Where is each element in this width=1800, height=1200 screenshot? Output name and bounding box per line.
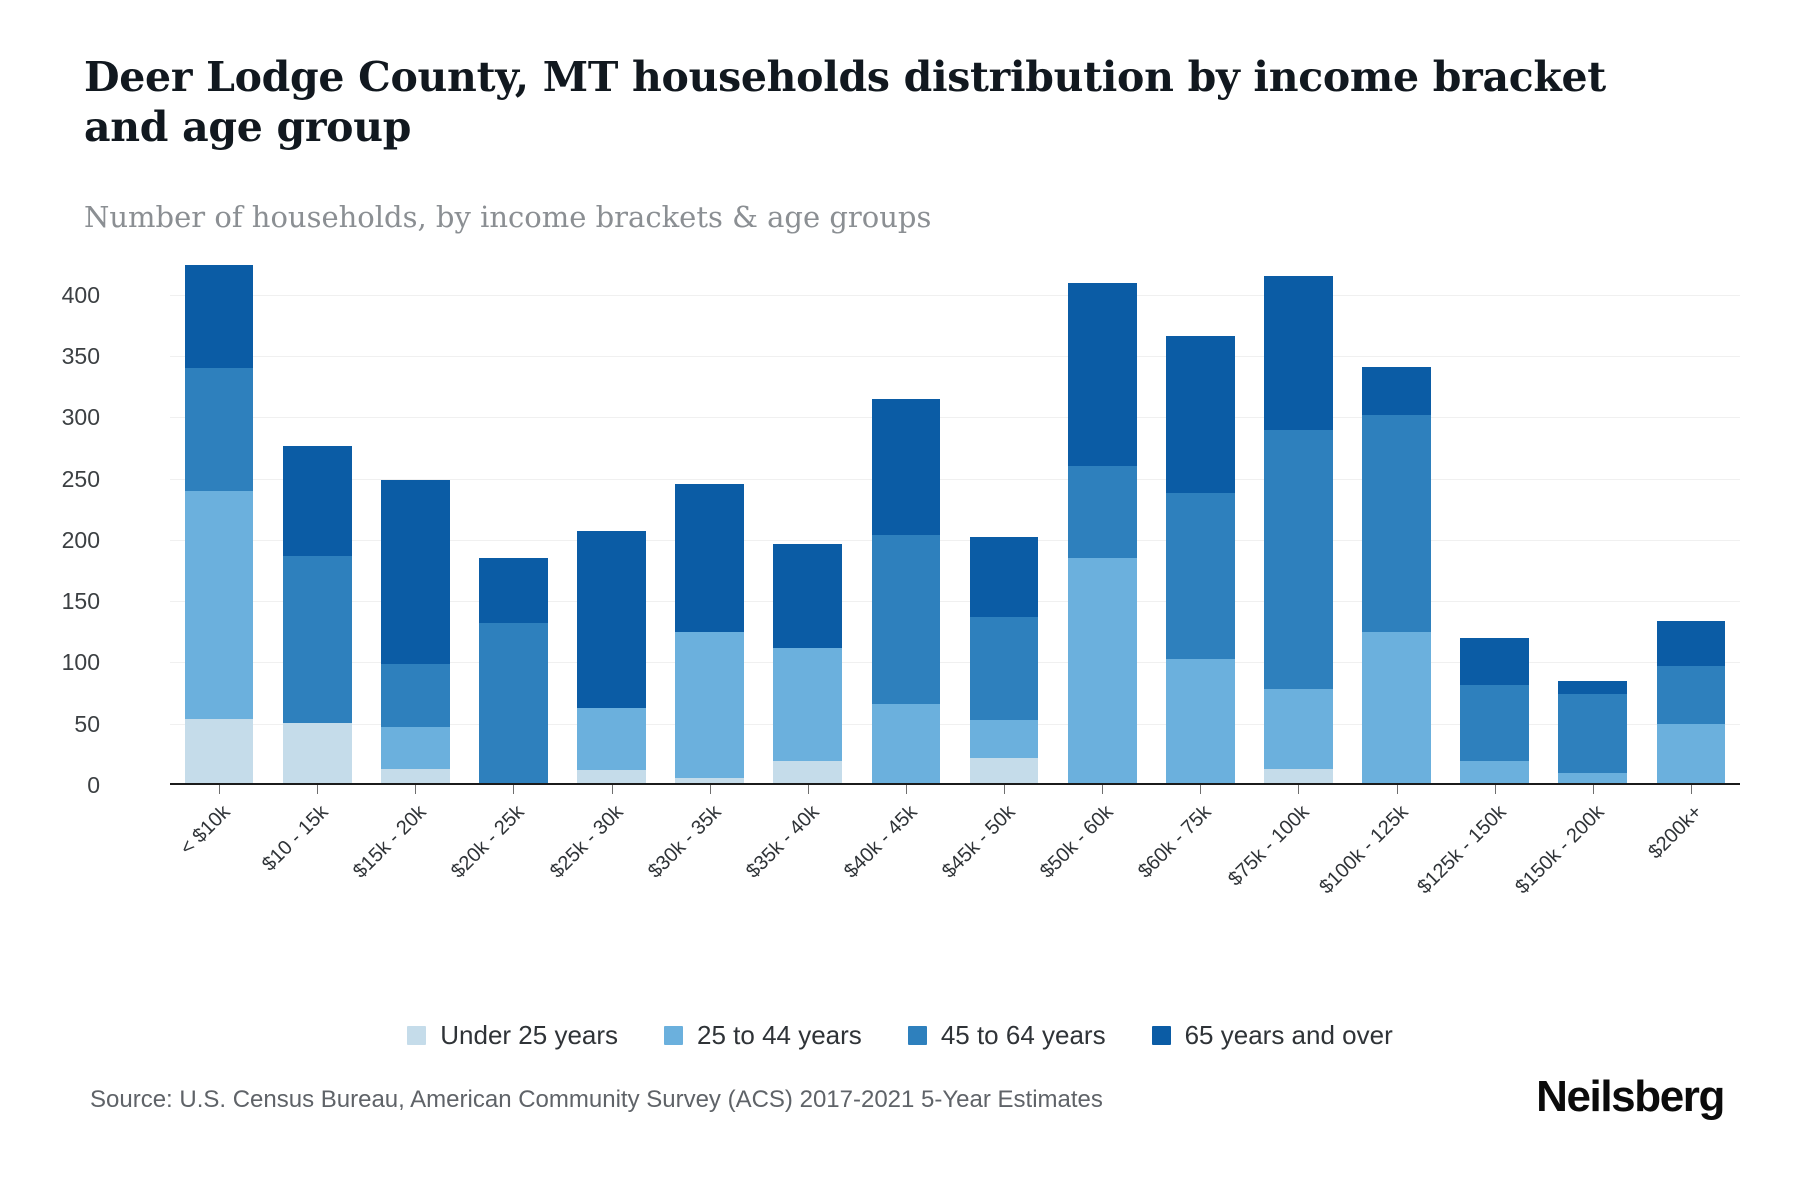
y-axis-tick-label: 100 bbox=[0, 649, 100, 676]
bar-stack[interactable] bbox=[970, 537, 1039, 785]
bar-segment[interactable] bbox=[381, 664, 450, 728]
legend-swatch-icon bbox=[407, 1026, 426, 1045]
y-axis-tick-label: 350 bbox=[0, 343, 100, 370]
bar-segment[interactable] bbox=[1657, 621, 1726, 666]
bar-stack[interactable] bbox=[1460, 638, 1529, 785]
x-axis-tick bbox=[1298, 785, 1299, 794]
bar-segment[interactable] bbox=[1264, 430, 1333, 690]
legend-item[interactable]: Under 25 years bbox=[407, 1020, 618, 1051]
plot-area: 050100150200250300350400 bbox=[170, 258, 1740, 785]
x-axis-tick bbox=[1691, 785, 1692, 794]
bar-segment[interactable] bbox=[1264, 276, 1333, 429]
x-axis-tick bbox=[1593, 785, 1594, 794]
bar-segment[interactable] bbox=[970, 758, 1039, 785]
bar-stack[interactable] bbox=[1166, 336, 1235, 785]
legend-item[interactable]: 65 years and over bbox=[1152, 1020, 1393, 1051]
y-axis-tick-label: 300 bbox=[0, 404, 100, 431]
legend-label: 25 to 44 years bbox=[697, 1020, 862, 1051]
bar-stack[interactable] bbox=[577, 531, 646, 785]
bar-segment[interactable] bbox=[1362, 415, 1431, 632]
bar-segment[interactable] bbox=[773, 544, 842, 648]
y-axis-tick-label: 50 bbox=[0, 711, 100, 738]
bar-segment[interactable] bbox=[1362, 367, 1431, 415]
bar-stack[interactable] bbox=[872, 399, 941, 785]
bar-series-container bbox=[170, 258, 1740, 785]
x-axis-tick bbox=[906, 785, 907, 794]
bar-segment[interactable] bbox=[283, 556, 352, 723]
bar-segment[interactable] bbox=[283, 446, 352, 556]
chart-legend: Under 25 years25 to 44 years45 to 64 yea… bbox=[0, 1020, 1800, 1051]
bar-segment[interactable] bbox=[1657, 724, 1726, 785]
bar-segment[interactable] bbox=[1460, 638, 1529, 685]
x-axis-tick bbox=[808, 785, 809, 794]
bar-segment[interactable] bbox=[1657, 666, 1726, 724]
bar-segment[interactable] bbox=[872, 399, 941, 535]
x-axis-tick bbox=[612, 785, 613, 794]
bar-stack[interactable] bbox=[773, 544, 842, 785]
bar-stack[interactable] bbox=[1264, 276, 1333, 785]
bar-segment[interactable] bbox=[872, 704, 941, 785]
x-axis-tick bbox=[219, 785, 220, 794]
bar-segment[interactable] bbox=[1068, 283, 1137, 467]
bar-segment[interactable] bbox=[1068, 558, 1137, 785]
bar-segment[interactable] bbox=[1166, 336, 1235, 493]
bar-segment[interactable] bbox=[1460, 685, 1529, 761]
bar-segment[interactable] bbox=[773, 648, 842, 761]
bar-segment[interactable] bbox=[479, 558, 548, 623]
bar-segment[interactable] bbox=[1558, 681, 1627, 694]
bar-segment[interactable] bbox=[1166, 493, 1235, 658]
bar-segment[interactable] bbox=[381, 480, 450, 664]
y-axis-tick-label: 150 bbox=[0, 588, 100, 615]
bar-segment[interactable] bbox=[970, 617, 1039, 720]
x-axis-tick bbox=[1004, 785, 1005, 794]
bar-stack[interactable] bbox=[1558, 681, 1627, 785]
bar-stack[interactable] bbox=[1657, 621, 1726, 785]
bar-segment[interactable] bbox=[675, 484, 744, 632]
bar-stack[interactable] bbox=[479, 558, 548, 785]
legend-label: 45 to 64 years bbox=[941, 1020, 1106, 1051]
legend-item[interactable]: 45 to 64 years bbox=[908, 1020, 1106, 1051]
x-axis-tick bbox=[1102, 785, 1103, 794]
x-axis-tick bbox=[1200, 785, 1201, 794]
bar-segment[interactable] bbox=[872, 535, 941, 704]
bar-stack[interactable] bbox=[1068, 283, 1137, 785]
chart-page: Deer Lodge County, MT households distrib… bbox=[0, 0, 1800, 1200]
bar-stack[interactable] bbox=[283, 446, 352, 785]
legend-swatch-icon bbox=[664, 1026, 683, 1045]
x-axis-tick bbox=[1495, 785, 1496, 794]
legend-swatch-icon bbox=[1152, 1026, 1171, 1045]
bar-stack[interactable] bbox=[1362, 367, 1431, 785]
bar-stack[interactable] bbox=[675, 484, 744, 785]
bar-segment[interactable] bbox=[185, 265, 254, 368]
bar-segment[interactable] bbox=[283, 723, 352, 786]
legend-label: Under 25 years bbox=[440, 1020, 618, 1051]
y-axis-tick-label: 0 bbox=[0, 772, 100, 799]
y-axis-tick-label: 200 bbox=[0, 527, 100, 554]
bar-segment[interactable] bbox=[1166, 659, 1235, 785]
bar-segment[interactable] bbox=[1264, 689, 1333, 769]
bar-segment[interactable] bbox=[1362, 632, 1431, 785]
bar-stack[interactable] bbox=[185, 265, 254, 785]
bar-segment[interactable] bbox=[381, 727, 450, 769]
bar-segment[interactable] bbox=[970, 537, 1039, 617]
bar-segment[interactable] bbox=[577, 531, 646, 707]
x-axis-tick bbox=[415, 785, 416, 794]
bar-segment[interactable] bbox=[185, 491, 254, 719]
x-axis-tick bbox=[513, 785, 514, 794]
legend-swatch-icon bbox=[908, 1026, 927, 1045]
legend-item[interactable]: 25 to 44 years bbox=[664, 1020, 862, 1051]
bar-segment[interactable] bbox=[577, 708, 646, 771]
bar-segment[interactable] bbox=[185, 719, 254, 785]
brand-logo: Neilsberg bbox=[1536, 1072, 1724, 1122]
bar-segment[interactable] bbox=[1460, 761, 1529, 786]
bar-segment[interactable] bbox=[675, 632, 744, 778]
bar-segment[interactable] bbox=[773, 761, 842, 786]
source-note: Source: U.S. Census Bureau, American Com… bbox=[90, 1086, 1103, 1114]
y-axis-tick-label: 400 bbox=[0, 282, 100, 309]
x-axis-tick bbox=[1397, 785, 1398, 794]
x-axis-line bbox=[170, 783, 1740, 785]
bar-segment[interactable] bbox=[1068, 466, 1137, 558]
y-axis-tick-label: 250 bbox=[0, 466, 100, 493]
bar-stack[interactable] bbox=[381, 480, 450, 785]
bar-segment[interactable] bbox=[1558, 694, 1627, 772]
x-axis-tick bbox=[317, 785, 318, 794]
bar-segment[interactable] bbox=[970, 720, 1039, 758]
x-axis-tick bbox=[710, 785, 711, 794]
bar-segment[interactable] bbox=[479, 623, 548, 785]
legend-label: 65 years and over bbox=[1185, 1020, 1393, 1051]
bar-segment[interactable] bbox=[185, 368, 254, 491]
